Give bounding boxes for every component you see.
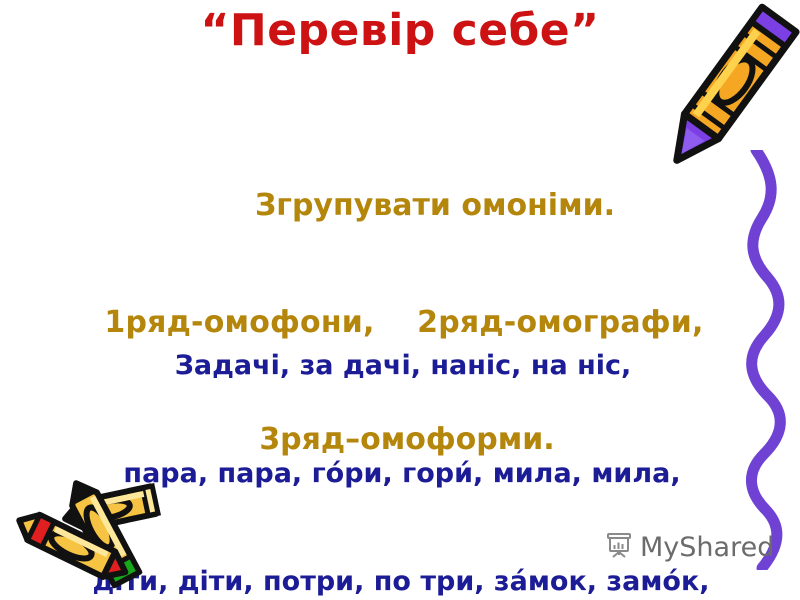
slide-canvas: “Перевір себе” Згрупувати омоніми. 1ряд-…: [0, 0, 800, 600]
page-title: “Перевір себе”: [0, 8, 800, 54]
task-line: Згрупувати омоніми.: [0, 186, 800, 225]
presentation-board-icon: [604, 530, 634, 564]
word-line: пара, пара, го́ри, гори́, мила, мила,: [0, 456, 800, 492]
myshared-label: MyShared: [640, 534, 774, 561]
myshared-watermark: MyShared: [604, 530, 774, 564]
word-line: Задачі, за дачі, наніс, на ніс,: [0, 348, 800, 384]
word-line: діти, діти, потри, по три, за́мок, замо́…: [0, 564, 800, 600]
